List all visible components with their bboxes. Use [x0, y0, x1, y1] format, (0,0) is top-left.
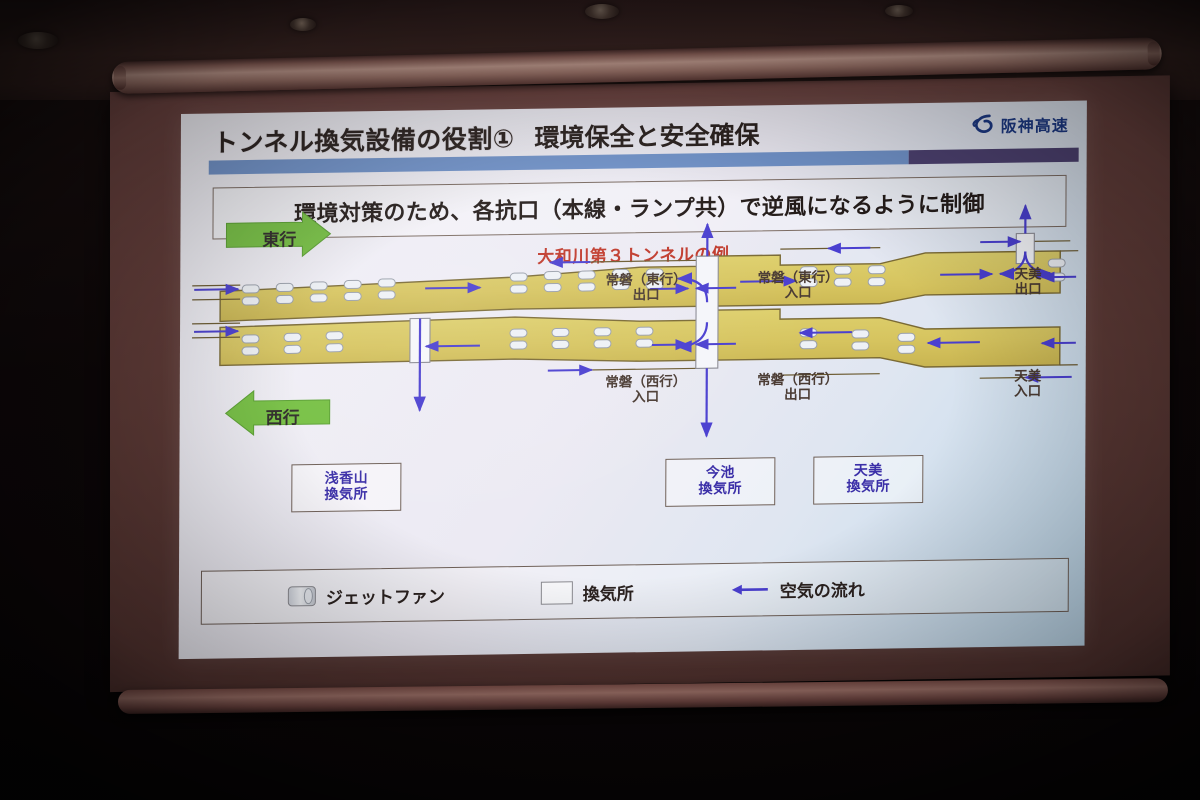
- page-title: トンネル換気設備の役割①: [213, 119, 515, 159]
- label-line-2: 出口: [732, 387, 864, 404]
- amami-exit-label: 天美 出口: [990, 267, 1066, 298]
- projection-screen: トンネル換気設備の役割① 環境保全と安全確保 阪神高速: [0, 0, 1200, 800]
- vent-station-line-2: 換気所: [325, 487, 369, 503]
- brand-logo: 阪神高速: [970, 111, 1069, 138]
- hanshin-expressway-logo-icon: [970, 112, 996, 138]
- photo-of-projected-slide: トンネル換気設備の役割① 環境保全と安全確保 阪神高速: [0, 0, 1200, 800]
- label-line-2: 入口: [580, 389, 712, 406]
- tokiwa-eastbound-exit-label: 常磐（東行） 出口: [580, 272, 712, 304]
- asakayama-shaft: [410, 318, 430, 362]
- subtitle-box: 環境対策のため、各抗口（本線・ランプ共）で逆風になるように制御: [212, 175, 1066, 240]
- legend: ジェットファン 換気所 空気の流れ: [201, 558, 1069, 625]
- westbound-arrow-label: 西行: [266, 403, 300, 429]
- label-line-2: 入口: [732, 285, 864, 302]
- air-flow-arrow-icon: [730, 582, 770, 597]
- brand-name: 阪神高速: [1001, 112, 1069, 137]
- eastbound-arrow-label: 東行: [262, 225, 296, 251]
- slide-canvas: トンネル換気設備の役割① 環境保全と安全確保 阪神高速: [179, 101, 1087, 660]
- imaike-vent-station[interactable]: 今池 換気所: [665, 457, 775, 507]
- legend-label: 換気所: [583, 579, 634, 605]
- vent-station-line-2: 換気所: [846, 480, 890, 496]
- label-line-2: 出口: [990, 282, 1066, 298]
- amami-entrance-label: 天美 入口: [990, 369, 1066, 400]
- tokiwa-westbound-entrance-label: 常磐（西行） 入口: [580, 374, 712, 406]
- label-line-2: 出口: [580, 287, 712, 304]
- roller-cap-left: [114, 66, 127, 90]
- subtitle-text: 環境対策のため、各抗口（本線・ランプ共）で逆風になるように制御: [294, 186, 985, 228]
- legend-item-air-flow: 空気の流れ: [730, 575, 865, 602]
- tokiwa-westbound-exit-label: 常磐（西行） 出口: [732, 372, 864, 404]
- tokiwa-eastbound-entrance-label: 常磐（東行） 入口: [732, 270, 864, 302]
- legend-item-vent-station: 換気所: [541, 579, 634, 605]
- westbound-tunnel-body: [220, 305, 1060, 377]
- legend-label: 空気の流れ: [780, 575, 865, 601]
- label-line-2: 入口: [990, 384, 1066, 400]
- roller-cap-right: [1147, 41, 1160, 65]
- vent-station-line-1: 天美: [854, 464, 883, 480]
- jet-fan-icon: [288, 586, 316, 606]
- vent-station-line-2: 換気所: [698, 482, 742, 498]
- eastbound-arrow: 東行: [238, 218, 320, 257]
- legend-item-jet-fan: ジェットファン: [288, 582, 445, 609]
- vent-station-line-1: 今池: [706, 466, 735, 482]
- asakayama-vent-station[interactable]: 浅香山 換気所: [291, 463, 401, 513]
- legend-label: ジェットファン: [326, 582, 445, 609]
- band-purple: [909, 148, 1079, 165]
- amami-vent-station[interactable]: 天美 換気所: [813, 455, 923, 505]
- page-title-subtitle: 環境保全と安全確保: [534, 115, 759, 154]
- vent-station-icon: [541, 581, 573, 604]
- westbound-arrow: 西行: [242, 396, 324, 435]
